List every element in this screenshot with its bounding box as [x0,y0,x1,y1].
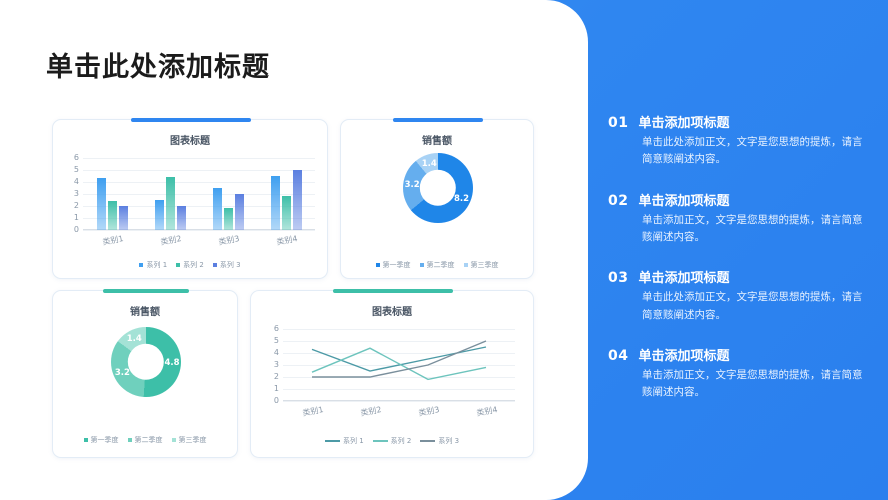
x-tick-label: 类别4 [476,404,499,419]
feature-item-head: 01单击添加项标题 [608,112,870,131]
legend-swatch-icon [84,438,88,442]
legend-item[interactable]: 系列 1 [139,260,167,270]
legend-label: 系列 2 [183,260,204,270]
donut-green-plot: 4.83.21.4 [111,327,181,397]
x-tick-label: 类别3 [418,404,441,419]
legend-label: 系列 1 [146,260,167,270]
y-tick-label: 2 [74,202,79,210]
donut-value-label: 3.2 [115,368,130,378]
card-accent-bar [393,118,483,122]
legend-item[interactable]: 第一季度 [84,435,119,445]
feature-item-title: 单击添加项标题 [638,267,729,286]
x-tick-label: 类别2 [360,404,383,419]
bar [108,201,117,230]
y-tick-label: 1 [274,385,279,393]
x-tick-label: 类别1 [302,404,325,419]
donut-value-label: 3.2 [405,180,420,190]
feature-item-head: 02单击添加项标题 [608,190,870,209]
card-accent-bar [103,289,189,293]
bar-chart-legend: 系列 1系列 2系列 3 [53,260,327,270]
y-tick-label: 3 [274,361,279,369]
y-tick-label: 6 [74,154,79,162]
feature-item-head: 03单击添加项标题 [608,267,870,286]
y-tick-label: 4 [274,349,279,357]
line-series [312,347,486,371]
legend-line-icon [325,440,340,442]
legend-item[interactable]: 第二季度 [420,260,455,270]
legend-swatch-icon [464,263,468,267]
donut-value-label: 1.4 [422,159,437,169]
feature-item-number: 04 [608,348,628,364]
gridline [83,170,315,171]
bar-chart-plot: 6543210类别1类别2类别3类别4 [83,158,315,230]
legend-swatch-icon [139,263,143,267]
legend-label: 系列 1 [343,436,364,446]
feature-item-body: 单击此处添加正文，文字是您思想的提炼，请言简意赅阐述内容。 [642,134,870,169]
legend-item[interactable]: 第三季度 [172,435,207,445]
card-accent-bar [333,289,453,293]
donut-value-label: 4.8 [164,358,179,368]
line-chart-plot: 6543210类别1类别2类别3类别4 [283,329,515,401]
bar [166,177,175,230]
feature-item-title: 单击添加项标题 [638,112,729,131]
legend-item[interactable]: 系列 2 [176,260,204,270]
bar [282,196,291,230]
legend-swatch-icon [213,263,217,267]
feature-list-item[interactable]: 03单击添加项标题单击此处添加正文，文字是您思想的提炼，请言简意赅阐述内容。 [608,267,870,324]
legend-label: 第二季度 [135,435,163,445]
bar [235,194,244,230]
y-tick-label: 5 [74,166,79,174]
feature-item-body: 单击添加正文，文字是您思想的提炼，请言简意赅阐述内容。 [642,212,870,247]
card-donut-green[interactable]: 销售额 4.83.21.4 第一季度第二季度第三季度 [52,290,238,458]
legend-swatch-icon [420,263,424,267]
feature-list-item[interactable]: 04单击添加项标题单击添加正文，文字是您思想的提炼，请言简意赅阐述内容。 [608,345,870,402]
legend-swatch-icon [128,438,132,442]
donut-green-title: 销售额 [53,303,237,318]
bar [97,178,106,230]
x-tick-label: 类别2 [160,233,183,248]
line-series-group [283,329,515,401]
legend-item[interactable]: 系列 3 [420,436,459,446]
legend-swatch-icon [176,263,180,267]
bar [177,206,186,230]
y-tick-label: 2 [274,373,279,381]
y-tick-label: 4 [74,178,79,186]
x-tick-label: 类别4 [276,233,299,248]
card-line-chart[interactable]: 图表标题 6543210类别1类别2类别3类别4 系列 1系列 2系列 3 [250,290,534,458]
legend-item[interactable]: 第一季度 [376,260,411,270]
feature-item-number: 01 [608,115,628,131]
legend-label: 系列 3 [438,436,459,446]
legend-item[interactable]: 第二季度 [128,435,163,445]
bar [224,208,233,230]
y-tick-label: 6 [274,325,279,333]
bar [119,206,128,230]
donut-value-label: 8.2 [454,194,469,204]
legend-label: 第一季度 [91,435,119,445]
feature-item-title: 单击添加项标题 [638,345,729,364]
bar-chart-title: 图表标题 [53,132,327,147]
bar [293,170,302,230]
legend-item[interactable]: 系列 3 [213,260,241,270]
legend-label: 第三季度 [471,260,499,270]
bar [155,200,164,230]
feature-list: 01单击添加项标题单击此处添加正文，文字是您思想的提炼，请言简意赅阐述内容。02… [608,112,870,423]
y-tick-label: 1 [74,214,79,222]
legend-label: 第二季度 [427,260,455,270]
legend-label: 系列 3 [220,260,241,270]
donut-blue-legend: 第一季度第二季度第三季度 [341,260,533,270]
legend-label: 系列 2 [391,436,412,446]
gridline [283,401,515,402]
legend-item[interactable]: 系列 2 [373,436,412,446]
feature-item-title: 单击添加项标题 [638,190,729,209]
feature-item-head: 04单击添加项标题 [608,345,870,364]
y-tick-label: 0 [74,226,79,234]
gridline [83,158,315,159]
feature-item-body: 单击此处添加正文，文字是您思想的提炼，请言简意赅阐述内容。 [642,289,870,324]
y-tick-label: 3 [74,190,79,198]
legend-line-icon [373,440,388,442]
card-bar-chart[interactable]: 图表标题 6543210类别1类别2类别3类别4 系列 1系列 2系列 3 [52,119,328,279]
gridline [83,182,315,183]
donut-green-legend: 第一季度第二季度第三季度 [53,435,237,445]
legend-line-icon [420,440,435,442]
bar [213,188,222,230]
x-tick-label: 类别1 [102,233,125,248]
slide-title: 单击此处添加标题 [46,45,270,84]
feature-list-item[interactable]: 02单击添加项标题单击添加正文，文字是您思想的提炼，请言简意赅阐述内容。 [608,190,870,247]
y-tick-label: 5 [274,337,279,345]
legend-label: 第三季度 [179,435,207,445]
legend-item[interactable]: 第三季度 [464,260,499,270]
gridline [83,230,315,231]
y-tick-label: 0 [274,397,279,405]
gridline [83,194,315,195]
legend-swatch-icon [172,438,176,442]
donut-value-label: 1.4 [127,334,142,344]
feature-item-body: 单击添加正文，文字是您思想的提炼，请言简意赅阐述内容。 [642,367,870,402]
legend-label: 第一季度 [383,260,411,270]
donut-blue-title: 销售额 [341,132,533,147]
card-donut-blue[interactable]: 销售额 8.23.21.4 第一季度第二季度第三季度 [340,119,534,279]
line-chart-legend: 系列 1系列 2系列 3 [251,436,533,446]
card-accent-bar [131,118,251,122]
legend-item[interactable]: 系列 1 [325,436,364,446]
donut-blue-plot: 8.23.21.4 [403,153,473,223]
line-chart-title: 图表标题 [251,303,533,318]
legend-swatch-icon [376,263,380,267]
bar [271,176,280,230]
feature-item-number: 02 [608,193,628,209]
feature-list-item[interactable]: 01单击添加项标题单击此处添加正文，文字是您思想的提炼，请言简意赅阐述内容。 [608,112,870,169]
feature-item-number: 03 [608,270,628,286]
x-tick-label: 类别3 [218,233,241,248]
